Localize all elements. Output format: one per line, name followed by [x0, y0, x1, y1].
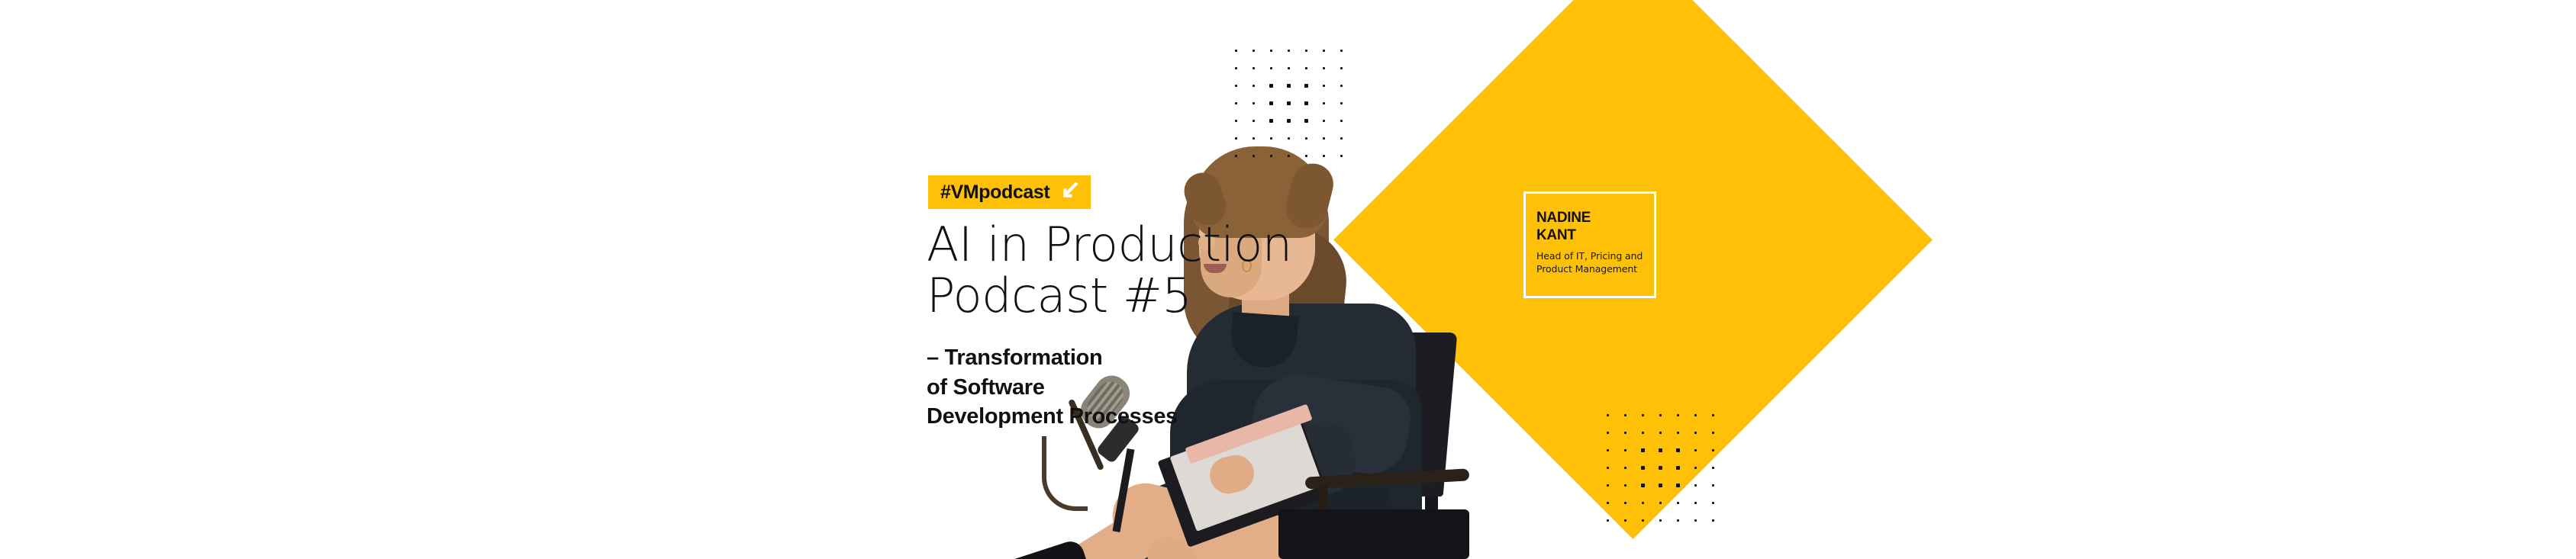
dot-grid-cell: [1262, 59, 1280, 77]
dot: [1253, 102, 1256, 105]
dot: [1270, 50, 1272, 52]
dot-grid-cell: [1687, 424, 1704, 442]
dot: [1624, 432, 1627, 434]
dot: [1269, 101, 1273, 105]
dot-grid-cell: [1227, 112, 1245, 130]
dot: [1253, 85, 1256, 88]
dot-grid-cell: [1262, 130, 1280, 147]
dot-grid-cell: [1245, 130, 1262, 147]
dot: [1694, 467, 1697, 470]
dot-grid-cell: [1652, 512, 1669, 529]
dot-grid-cell: [1262, 112, 1280, 130]
dot: [1288, 155, 1290, 157]
dot-grid-cell: [1617, 459, 1634, 477]
dot: [1253, 67, 1255, 69]
dot-grid-cell: [1333, 95, 1350, 112]
dot-grid-cell: [1652, 477, 1669, 494]
dot: [1677, 502, 1680, 505]
dot-grid-cell: [1687, 494, 1704, 512]
dot-grid-cell: [1298, 130, 1315, 147]
dot-grid-cell: [1262, 95, 1280, 112]
dot-grid-cell: [1315, 77, 1333, 95]
dot-grid-cell: [1687, 512, 1704, 529]
dot: [1607, 414, 1609, 416]
dot: [1607, 519, 1609, 522]
dot-grid-cell: [1634, 477, 1652, 494]
dot: [1340, 102, 1343, 104]
dot-grid-cell: [1333, 130, 1350, 147]
dot-grid-cell: [1280, 77, 1298, 95]
dot: [1340, 50, 1343, 52]
dot-grid-cell: [1262, 42, 1280, 59]
dot-grid-cell: [1652, 494, 1669, 512]
dot-grid-cell: [1704, 459, 1722, 477]
dot-grid-cell: [1315, 42, 1333, 59]
dot-grid-cell: [1704, 442, 1722, 459]
dot-grid-cell: [1669, 406, 1687, 424]
dot: [1607, 484, 1609, 487]
dot-grid-cell: [1634, 424, 1652, 442]
dot: [1642, 502, 1645, 505]
dot-grid-cell: [1617, 477, 1634, 494]
dot-grid-cell: [1227, 59, 1245, 77]
speaker-name: NADINE KANT: [1536, 209, 1654, 244]
dot: [1694, 449, 1697, 452]
dot: [1712, 432, 1714, 434]
dot-grid-cell: [1652, 459, 1669, 477]
dot: [1323, 155, 1325, 157]
dot-grid-cell: [1315, 147, 1333, 165]
dot-grid-cell: [1687, 442, 1704, 459]
dot-grid-cell: [1599, 494, 1617, 512]
dot: [1659, 432, 1662, 435]
dot-grid-cell: [1280, 95, 1298, 112]
dot-grid-cell: [1298, 42, 1315, 59]
dot: [1305, 137, 1308, 140]
dot-grid-cell: [1298, 95, 1315, 112]
speaker-card-inner: NADINE KANT Head of IT, Pricing and Prod…: [1523, 191, 1656, 298]
dot: [1712, 502, 1714, 504]
dot: [1624, 484, 1627, 487]
dot: [1607, 432, 1609, 434]
dot: [1305, 50, 1307, 52]
dot-grid-cell: [1315, 112, 1333, 130]
dot-grid-cell: [1298, 77, 1315, 95]
dot: [1269, 119, 1272, 122]
dot-grid-cell: [1298, 147, 1315, 165]
page-subtitle: – Transformation of Software Development…: [927, 343, 1178, 432]
dot: [1641, 466, 1645, 470]
dot-grid-cell: [1599, 406, 1617, 424]
dot-grid-cell: [1652, 442, 1669, 459]
dot: [1253, 137, 1255, 140]
dot: [1288, 50, 1290, 52]
dot-grid-cell: [1669, 512, 1687, 529]
dot-grid-cell: [1298, 112, 1315, 130]
dot-grid-cell: [1704, 494, 1722, 512]
dot: [1235, 155, 1237, 157]
dot-grid-cell: [1634, 512, 1652, 529]
dot: [1659, 519, 1662, 522]
dot-grid-cell: [1227, 42, 1245, 59]
vmpodcast-badge[interactable]: #VMpodcast: [928, 175, 1091, 209]
dot-grid-cell: [1704, 512, 1722, 529]
dot-grid-cell: [1634, 459, 1652, 477]
dot-grid-cell: [1262, 77, 1280, 95]
dot: [1270, 155, 1272, 157]
dot: [1624, 502, 1627, 504]
dot-grid-cell: [1280, 130, 1298, 147]
dot: [1694, 519, 1697, 522]
dot-grid-cell: [1245, 112, 1262, 130]
dot-grid-cell: [1599, 459, 1617, 477]
dot: [1270, 137, 1273, 140]
dot: [1323, 137, 1325, 140]
dot: [1712, 484, 1714, 487]
dot: [1340, 67, 1343, 69]
dot: [1676, 484, 1679, 487]
dot: [1304, 84, 1307, 87]
dot: [1624, 467, 1627, 470]
dot: [1694, 414, 1697, 416]
dot-grid-cell: [1687, 477, 1704, 494]
dot-grid-cell: [1280, 147, 1298, 165]
dot-grid-cell: [1333, 42, 1350, 59]
dot: [1340, 137, 1343, 140]
dot: [1642, 519, 1644, 522]
vmpodcast-badge-label: #VMpodcast: [940, 183, 1049, 202]
dot-grid-cell: [1245, 59, 1262, 77]
dot-grid-cell: [1687, 459, 1704, 477]
dot-grid-cell: [1704, 477, 1722, 494]
dot-grid-cell: [1333, 112, 1350, 130]
dot: [1694, 502, 1697, 504]
dot-grid-cell: [1227, 147, 1245, 165]
dot: [1677, 519, 1679, 522]
dot: [1676, 466, 1680, 470]
dot-grid-cell: [1599, 424, 1617, 442]
dot: [1624, 414, 1627, 416]
dot: [1323, 85, 1326, 88]
dot: [1642, 414, 1644, 416]
dot-grid-cell: [1315, 59, 1333, 77]
dot-grid-cell: [1669, 424, 1687, 442]
dot-grid-cell: [1634, 406, 1652, 424]
dot: [1323, 50, 1325, 52]
dot: [1624, 449, 1627, 452]
dot: [1659, 448, 1662, 452]
dot: [1287, 84, 1291, 88]
dot-grid-cell: [1333, 147, 1350, 165]
dot-grid-cell: [1652, 406, 1669, 424]
dot: [1235, 120, 1237, 122]
dot-grid-cell: [1669, 494, 1687, 512]
dot-grid-cell: [1617, 424, 1634, 442]
dot-grid-cell: [1280, 42, 1298, 59]
dot-grid-cell: [1227, 95, 1245, 112]
dot: [1235, 102, 1237, 104]
dot: [1712, 467, 1714, 469]
dot-grid-cell: [1333, 59, 1350, 77]
dot-grid-cell: [1704, 406, 1722, 424]
dot-grid-cell: [1245, 147, 1262, 165]
podcast-banner: #VMpodcast AI in Production Podcast #5 –…: [0, 0, 2576, 559]
dot: [1304, 101, 1308, 105]
dot: [1253, 155, 1255, 157]
dot: [1235, 50, 1237, 52]
dot-grid-top: [1227, 42, 1350, 165]
dot: [1323, 102, 1326, 105]
dot: [1253, 120, 1256, 123]
dot-grid-cell: [1617, 494, 1634, 512]
dot: [1624, 519, 1627, 522]
dot-grid-cell: [1227, 130, 1245, 147]
dot: [1712, 449, 1714, 451]
page-title: AI in Production Podcast #5: [927, 220, 1292, 322]
dot: [1340, 85, 1343, 87]
dot: [1305, 67, 1308, 70]
dot: [1642, 432, 1645, 435]
dot-grid-cell: [1599, 442, 1617, 459]
dot: [1607, 502, 1609, 504]
speaker-role: Head of IT, Pricing and Product Manageme…: [1536, 249, 1654, 275]
dot: [1694, 484, 1697, 487]
dot-grid-cell: [1227, 77, 1245, 95]
dot-grid-cell: [1262, 147, 1280, 165]
dot: [1712, 414, 1714, 416]
dot: [1288, 137, 1291, 140]
dot-grid-cell: [1652, 424, 1669, 442]
microphone-cable: [1042, 436, 1088, 511]
dot-grid-cell: [1599, 477, 1617, 494]
dot: [1694, 432, 1697, 434]
dot: [1676, 448, 1679, 451]
dot: [1340, 120, 1343, 122]
dot: [1304, 119, 1307, 122]
dot: [1253, 50, 1255, 52]
arrow-down-left-icon: [1060, 181, 1080, 204]
dot-grid-cell: [1669, 477, 1687, 494]
dot: [1677, 432, 1680, 435]
dot-grid-cell: [1280, 112, 1298, 130]
dot: [1641, 484, 1644, 487]
dot-grid-cell: [1245, 42, 1262, 59]
dot: [1287, 101, 1291, 105]
dot-grid-cell: [1669, 442, 1687, 459]
dot-grid-cell: [1634, 442, 1652, 459]
dot-grid-cell: [1634, 494, 1652, 512]
dot: [1659, 484, 1662, 487]
dot: [1235, 85, 1237, 87]
dot: [1677, 414, 1679, 416]
dot-grid-cell: [1669, 459, 1687, 477]
dot-grid-cell: [1315, 130, 1333, 147]
boot-front: [985, 538, 1094, 559]
dot: [1607, 449, 1609, 451]
dot: [1712, 519, 1714, 522]
dot-grid-cell: [1617, 442, 1634, 459]
dot: [1323, 120, 1326, 123]
dot: [1235, 67, 1237, 69]
dot-grid-cell: [1245, 95, 1262, 112]
dot: [1323, 67, 1325, 69]
dot-grid-cell: [1617, 512, 1634, 529]
dot-grid-cell: [1333, 77, 1350, 95]
dot-grid-cell: [1704, 424, 1722, 442]
dot: [1607, 467, 1609, 469]
dot: [1287, 119, 1291, 123]
dot: [1659, 414, 1662, 416]
dot-grid-bottom: [1599, 406, 1722, 529]
dot-grid-cell: [1245, 77, 1262, 95]
speaker-card: NADINE KANT Head of IT, Pricing and Prod…: [1519, 187, 1661, 303]
dot-grid-cell: [1687, 406, 1704, 424]
dot-grid-cell: [1617, 406, 1634, 424]
dot: [1641, 448, 1644, 451]
dot: [1305, 155, 1307, 157]
dot: [1269, 84, 1272, 87]
dot: [1340, 155, 1343, 157]
dot-grid-cell: [1298, 59, 1315, 77]
dot: [1288, 67, 1291, 70]
chair-seat: [1278, 509, 1469, 559]
dot: [1270, 67, 1273, 70]
dot: [1659, 502, 1662, 505]
dot-grid-cell: [1280, 59, 1298, 77]
dot: [1659, 466, 1662, 470]
dot-grid-cell: [1315, 95, 1333, 112]
dot: [1235, 137, 1237, 140]
dot-grid-cell: [1599, 512, 1617, 529]
